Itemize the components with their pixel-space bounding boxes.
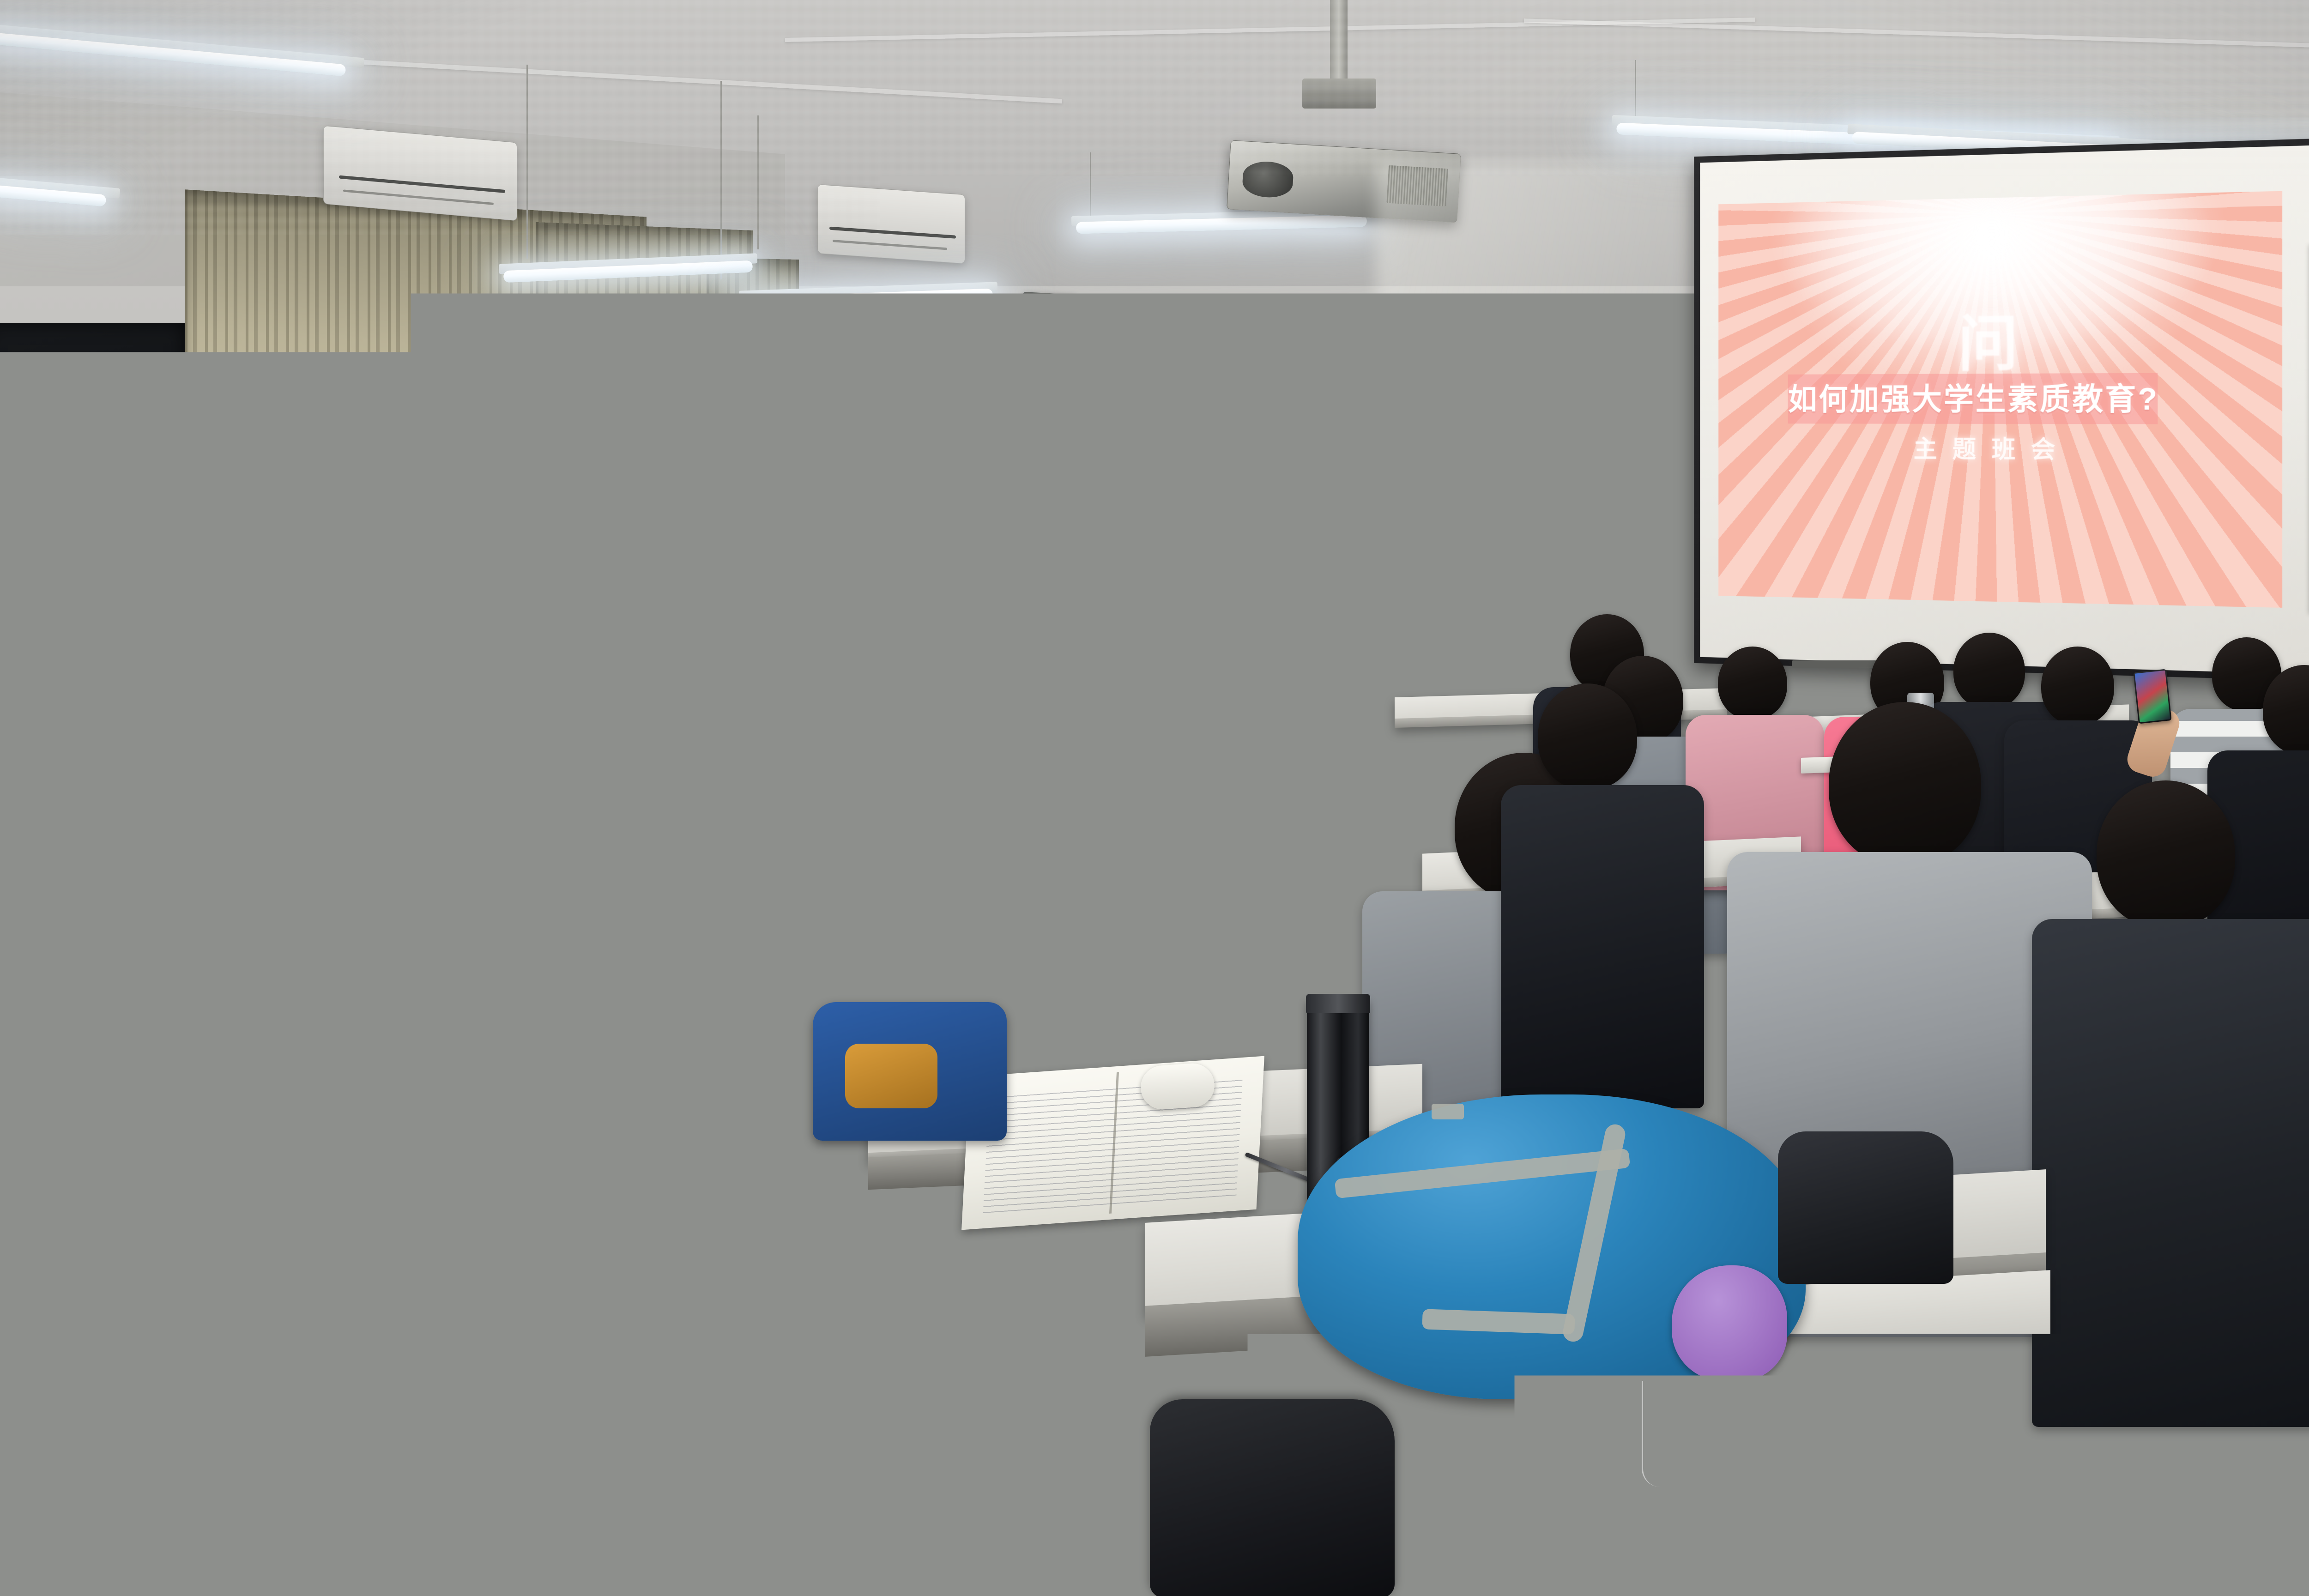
chair-bottom-right[interactable]: [2041, 1369, 2300, 1521]
window-dark-mid: [602, 342, 708, 600]
light-wire: [720, 81, 722, 279]
pencil-case[interactable]: [13, 824, 121, 857]
thermos-cap: [623, 655, 657, 670]
black-backpack-on-chair-left-2[interactable]: [129, 868, 323, 1076]
earphone-cable: [1642, 1381, 1674, 1487]
projection-screen-frame: 问 如何加强大学生素质教育? 主题班会: [1694, 138, 2309, 681]
screen-pull-bar: [1792, 660, 1884, 668]
presentation-slide: 问 如何加强大学生素质教育? 主题班会: [1719, 191, 2282, 608]
desk-teal-object[interactable]: [1041, 829, 1066, 848]
light-wire: [526, 65, 528, 259]
presenter-face: [1305, 462, 1357, 516]
chair-leg: [674, 1464, 680, 1596]
backpack-top-handle: [1432, 1104, 1464, 1119]
thermos-steel-left[interactable]: [623, 660, 657, 753]
window-mullion: [602, 466, 708, 471]
window-frame: [596, 323, 602, 619]
slide-title: 如何加强大学生素质教育?: [1788, 374, 2176, 419]
rolled-paper[interactable]: [1139, 1062, 1216, 1111]
projector-bracket: [1302, 79, 1376, 109]
jacket-on-chair[interactable]: [462, 1071, 702, 1224]
chair-leg: [914, 1459, 920, 1596]
desk-mid-center: [767, 803, 1025, 846]
light-wire: [757, 115, 759, 249]
presenter-shirt-graphic: [1306, 578, 1388, 602]
purple-item-in-backpack: [1672, 1265, 1787, 1381]
classroom-photo: 问 如何加强大学生素质教育? 主题班会: [0, 0, 2309, 1596]
ceiling-projector: [1227, 140, 1461, 223]
chalkboard-right-panel: [1612, 373, 1686, 659]
presenter-glasses: [1304, 480, 1354, 483]
wall-speaker: [1023, 292, 1076, 352]
slide-logo-text: 问: [1719, 291, 2282, 384]
open-notebook[interactable]: [961, 1056, 1264, 1230]
projector-lens: [1242, 160, 1294, 199]
black-bag-right[interactable]: [1778, 1131, 1953, 1284]
projector-vent-grille: [1386, 165, 1448, 206]
black-thermos-cap: [1306, 994, 1370, 1013]
slide-subtitle: 主题班会: [1719, 429, 2282, 466]
desk-graffiti-3: 加油: [737, 1452, 796, 1494]
thermos-pink-cap: [938, 717, 976, 741]
orange-item: [845, 1044, 937, 1108]
projection-screen-surface: 问 如何加强大学生素质教育? 主题班会: [1700, 145, 2309, 674]
air-conditioner-mid: [817, 184, 965, 264]
black-bag-foreground[interactable]: [1150, 1399, 1395, 1596]
light-wire: [1090, 152, 1091, 222]
window-mullion: [626, 342, 630, 600]
projector-mount-pole: [1330, 0, 1348, 79]
smartphone-raised[interactable]: [2133, 669, 2171, 724]
